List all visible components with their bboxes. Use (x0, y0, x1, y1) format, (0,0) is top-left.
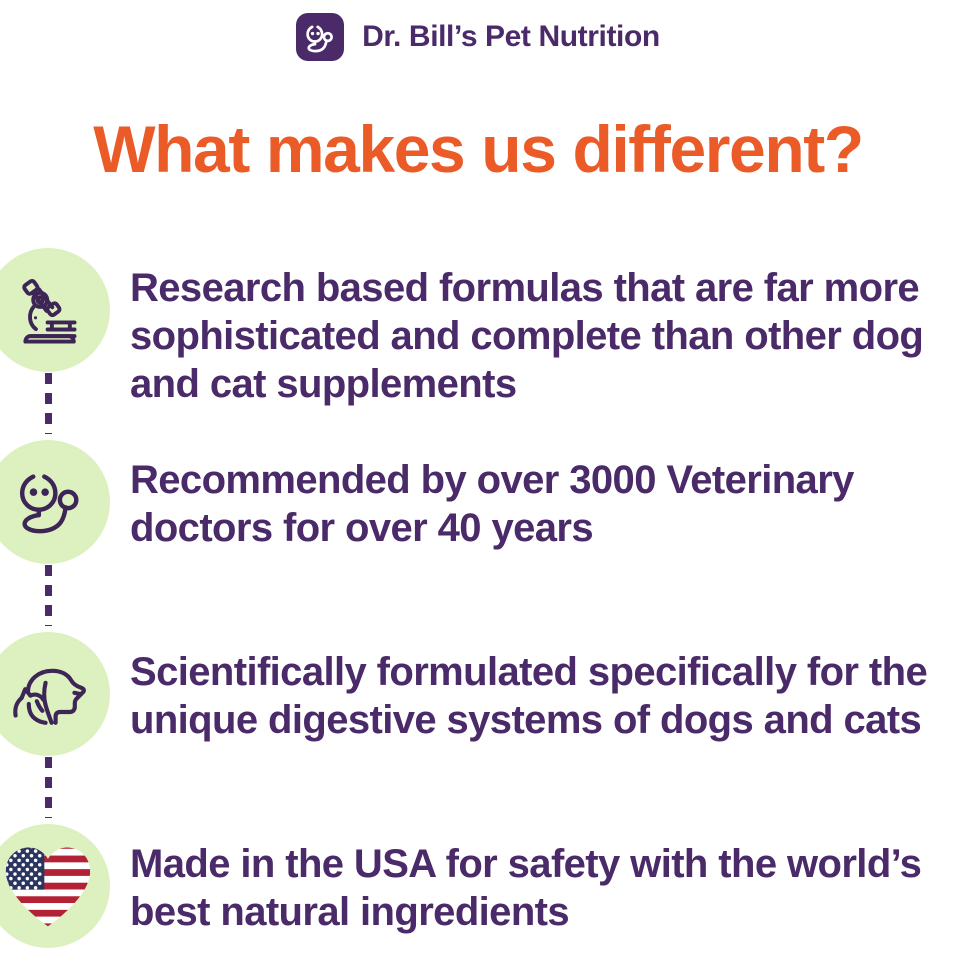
feature-icon-column (0, 440, 124, 626)
feature-icon-column (0, 632, 124, 818)
feature-item: Made in the USA for safety with the worl… (0, 824, 950, 948)
stethoscope-pet-face-icon (296, 13, 344, 61)
feature-text: Made in the USA for safety with the worl… (130, 824, 950, 936)
microscope-icon (0, 248, 110, 372)
feature-icon-column (0, 248, 124, 434)
feature-text: Scientifically formulated specifically f… (130, 632, 950, 744)
page-title: What makes us different? (0, 116, 956, 182)
stethoscope-icon (0, 440, 110, 564)
feature-list: Research based formulas that are far mor… (0, 248, 956, 948)
feature-item: Scientifically formulated specifically f… (0, 632, 950, 818)
feature-item: Recommended by over 3000 Veterinary doct… (0, 440, 950, 626)
dotted-connector (45, 564, 52, 626)
usa-flag-heart-icon (0, 824, 110, 948)
dotted-connector (45, 372, 52, 434)
brand-name: Dr. Bill’s Pet Nutrition (362, 22, 660, 52)
dotted-connector (45, 756, 52, 818)
dog-and-cat-icon (0, 632, 110, 756)
feature-icon-column (0, 824, 124, 948)
feature-text: Recommended by over 3000 Veterinary doct… (130, 440, 950, 552)
feature-item: Research based formulas that are far mor… (0, 248, 950, 434)
brand-header: Dr. Bill’s Pet Nutrition (0, 0, 956, 62)
feature-text: Research based formulas that are far mor… (130, 248, 950, 408)
